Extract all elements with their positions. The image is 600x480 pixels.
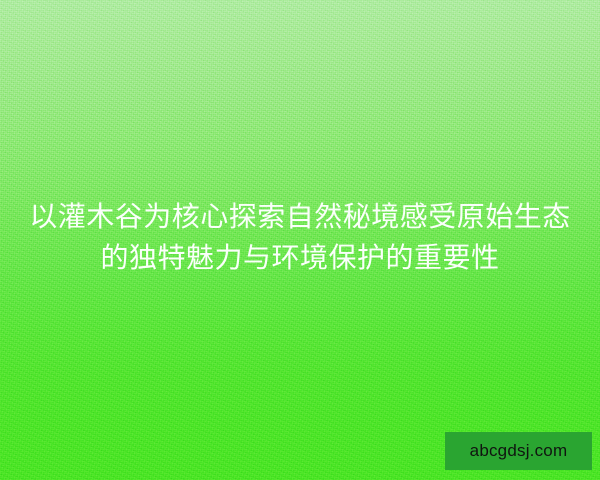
headline-text: 以灌木谷为核心探索自然秘境感受原始生态的独特魅力与环境保护的重要性 (0, 196, 600, 278)
watermark-label: abcgdsj.com (470, 441, 568, 461)
watermark-badge: abcgdsj.com (445, 432, 592, 470)
image-canvas: 以灌木谷为核心探索自然秘境感受原始生态的独特魅力与环境保护的重要性 abcgds… (0, 0, 600, 480)
